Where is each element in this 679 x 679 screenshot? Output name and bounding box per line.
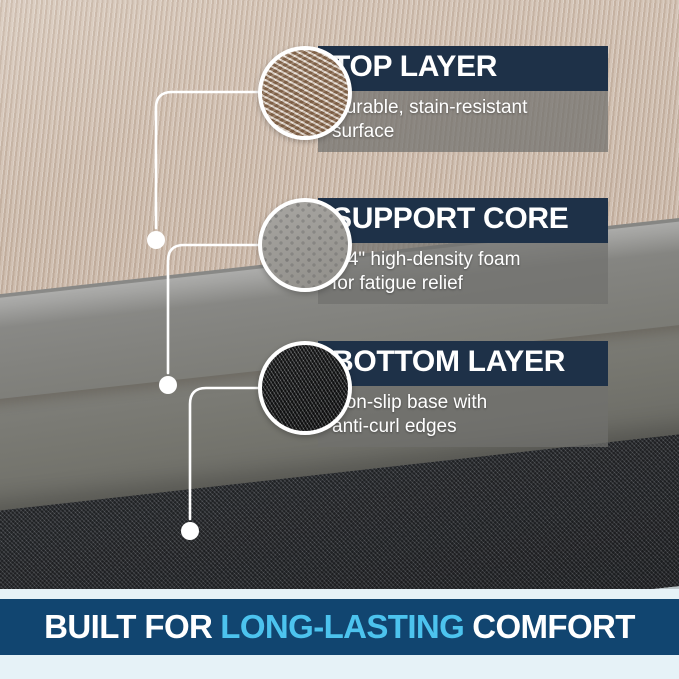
banner-top-margin bbox=[0, 589, 679, 599]
woven-tan-texture-swatch bbox=[258, 46, 352, 140]
banner-suffix: COMFORT bbox=[472, 608, 635, 645]
callout-support-core-desc-panel: 3/4" high-density foam for fatigue relie… bbox=[318, 243, 608, 305]
callout-bottom-layer-title: BOTTOM LAYER bbox=[332, 347, 594, 378]
callout-support-core-description: 3/4" high-density foam for fatigue relie… bbox=[332, 248, 594, 296]
callout-bottom-layer: BOTTOM LAYER Non-slip base with anti-cur… bbox=[258, 341, 608, 447]
callout-top-layer-text: TOP LAYER Durable, stain-resistant surfa… bbox=[318, 46, 608, 152]
product-photo-scene: TOP LAYER Durable, stain-resistant surfa… bbox=[0, 0, 679, 600]
callout-top-layer-title-bar: TOP LAYER bbox=[318, 46, 608, 91]
callout-support-core-title-bar: SUPPORT CORE bbox=[318, 198, 608, 243]
callout-support-core: SUPPORT CORE 3/4" high-density foam for … bbox=[258, 198, 608, 304]
callout-support-core-text: SUPPORT CORE 3/4" high-density foam for … bbox=[318, 198, 608, 304]
banner-bottom-margin bbox=[0, 655, 679, 679]
banner-highlight: LONG-LASTING bbox=[220, 608, 464, 645]
bottom-banner: BUILT FORLONG-LASTINGCOMFORT bbox=[0, 599, 679, 655]
callout-top-layer-title: TOP LAYER bbox=[332, 52, 594, 83]
callout-bottom-layer-title-bar: BOTTOM LAYER bbox=[318, 341, 608, 386]
callout-top-layer: TOP LAYER Durable, stain-resistant surfa… bbox=[258, 46, 608, 152]
banner-prefix: BUILT FOR bbox=[44, 608, 212, 645]
charcoal-weave-texture-swatch bbox=[258, 341, 352, 435]
callout-bottom-layer-desc-panel: Non-slip base with anti-curl edges bbox=[318, 386, 608, 448]
callout-top-layer-description: Durable, stain-resistant surface bbox=[332, 96, 594, 144]
product-infographic: TOP LAYER Durable, stain-resistant surfa… bbox=[0, 0, 679, 679]
bottom-banner-text: BUILT FORLONG-LASTINGCOMFORT bbox=[44, 608, 635, 646]
gray-foam-texture-swatch bbox=[258, 198, 352, 292]
callout-support-core-title: SUPPORT CORE bbox=[332, 204, 594, 235]
callout-bottom-layer-text: BOTTOM LAYER Non-slip base with anti-cur… bbox=[318, 341, 608, 447]
callout-bottom-layer-description: Non-slip base with anti-curl edges bbox=[332, 391, 594, 439]
callout-top-layer-desc-panel: Durable, stain-resistant surface bbox=[318, 91, 608, 153]
